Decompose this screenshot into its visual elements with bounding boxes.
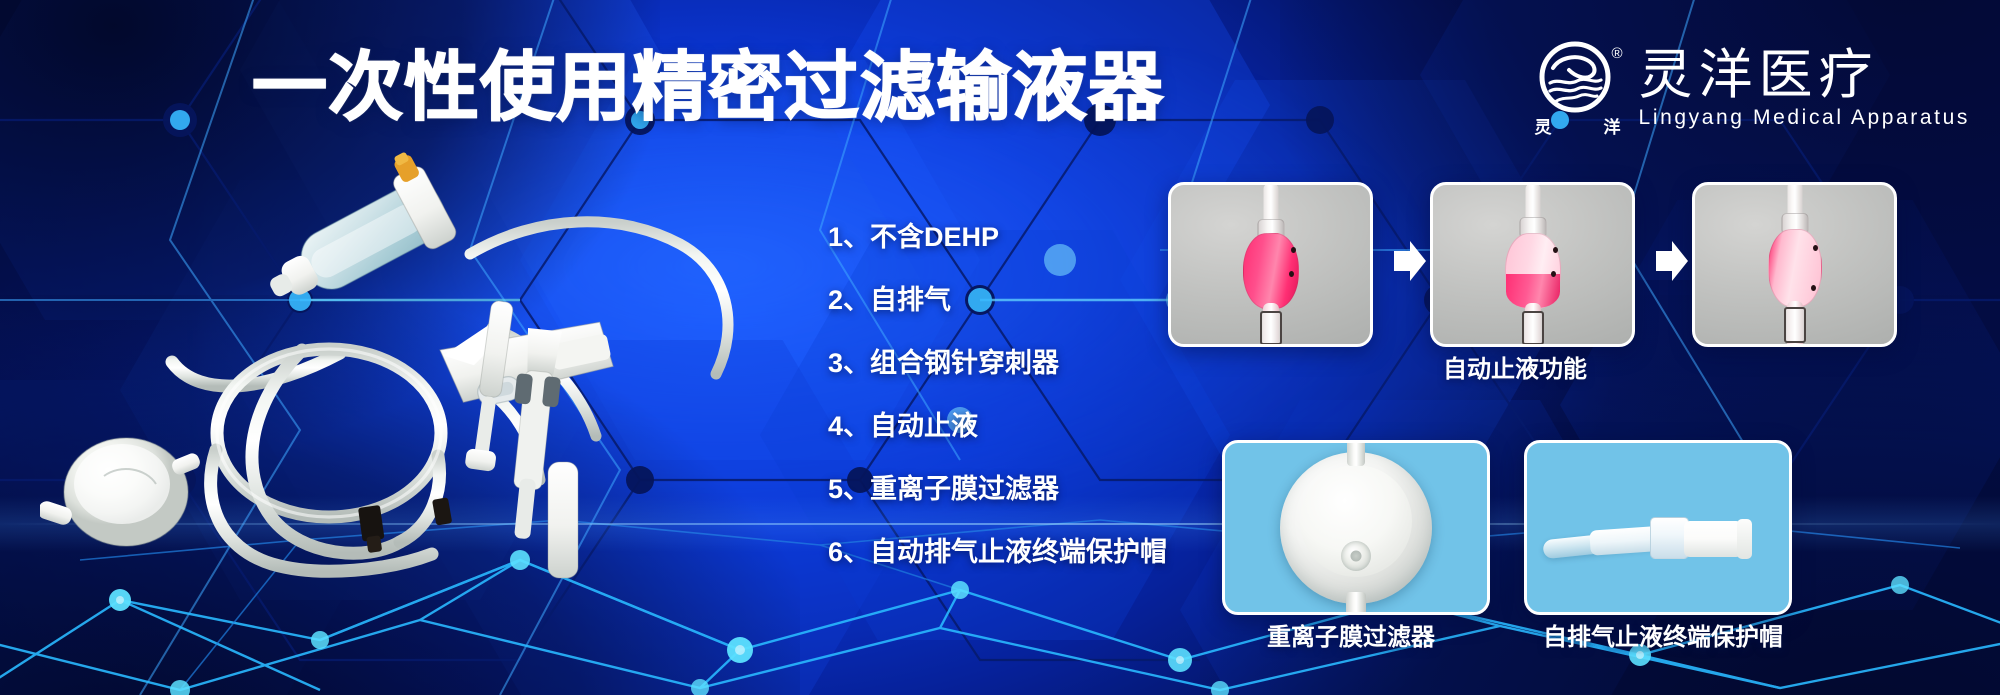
feature-item-2: 2、自排气	[828, 285, 1167, 316]
auto-stop-step-1-photo	[1168, 182, 1373, 347]
feature-item-5: 5、重离子膜过滤器	[828, 474, 1167, 505]
right-arrow-icon-1	[1392, 238, 1428, 284]
auto-stop-step-2-photo	[1430, 182, 1635, 347]
wave-circle-logo-icon: ® 灵 洋	[1535, 38, 1621, 138]
brand-name-en: Lingyang Medical Apparatus	[1639, 106, 1970, 130]
logo-mark-char-left: 灵	[1535, 113, 1552, 138]
auto-stop-step-3-photo	[1692, 182, 1897, 347]
feature-item-3: 3、组合钢针穿刺器	[828, 348, 1167, 379]
feature-item-6: 6、自动排气止液终端保护帽	[828, 537, 1167, 568]
feature-list: 1、不含DEHP 2、自排气 3、组合钢针穿刺器 4、自动止液 5、重离子膜过滤…	[828, 222, 1167, 568]
registered-trademark-icon: ®	[1611, 46, 1622, 61]
self-venting-cap-photo	[1524, 440, 1792, 615]
heavy-ion-membrane-filter-caption: 重离子膜过滤器	[1267, 624, 1435, 652]
right-arrow-icon-2	[1654, 238, 1690, 284]
brand-name-cn: 灵洋医疗	[1639, 46, 1970, 104]
page-title: 一次性使用精密过滤输液器	[252, 48, 1164, 126]
feature-item-1: 1、不含DEHP	[828, 222, 1167, 253]
brand-logo: ® 灵 洋 灵洋医疗 Lingyang Medical Apparatus	[1535, 38, 1970, 138]
heavy-ion-membrane-filter-photo	[1222, 440, 1490, 615]
self-venting-cap-caption: 自排气止液终端保护帽	[1543, 624, 1783, 652]
auto-stop-sequence-caption: 自动止液功能	[1443, 356, 1587, 384]
product-banner: 一次性使用精密过滤输液器 ® 灵 洋 灵洋医疗 Lingyang Medical…	[0, 0, 2000, 695]
logo-mark-char-right: 洋	[1604, 113, 1621, 138]
main-product-photo	[40, 150, 780, 580]
feature-item-4: 4、自动止液	[828, 411, 1167, 442]
